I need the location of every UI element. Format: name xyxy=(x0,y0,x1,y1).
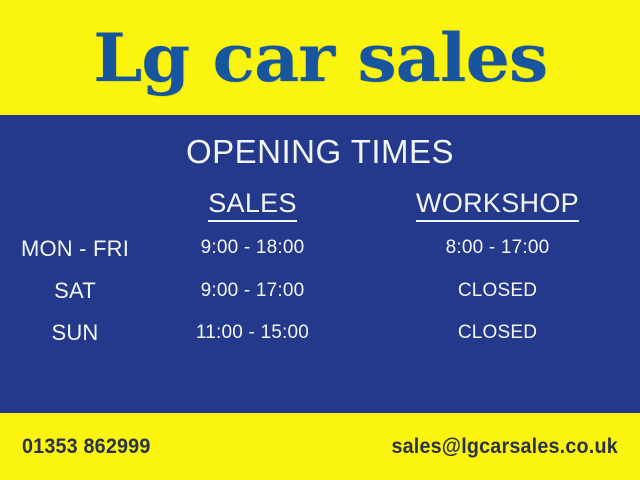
table-row: SUN 11:00 - 15:00 CLOSED xyxy=(0,312,640,354)
footer-band: 01353 862999 sales@lgcarsales.co.uk xyxy=(0,413,640,480)
brand-title: Lg car sales xyxy=(93,25,547,91)
row-sales-hours: 9:00 - 17:00 xyxy=(150,270,355,312)
row-workshop-hours: 8:00 - 17:00 xyxy=(355,228,640,270)
opening-hours-table: SALES WORKSHOP MON - FRI 9:00 - 18:00 8:… xyxy=(0,188,640,354)
page-title: OPENING TIMES xyxy=(0,115,640,168)
column-header-workshop-label: WORKSHOP xyxy=(416,189,579,222)
column-header-day xyxy=(0,188,150,228)
contact-email[interactable]: sales@lgcarsales.co.uk xyxy=(392,435,618,459)
row-sales-hours: 9:00 - 18:00 xyxy=(150,228,355,270)
main-panel: OPENING TIMES SALES WORKSHOP xyxy=(0,115,640,413)
table-header-row: SALES WORKSHOP xyxy=(0,188,640,228)
row-day-label: SAT xyxy=(0,270,150,312)
table-row: SAT 9:00 - 17:00 CLOSED xyxy=(0,270,640,312)
column-header-workshop: WORKSHOP xyxy=(355,188,640,228)
column-header-sales: SALES xyxy=(150,188,355,228)
row-sales-hours: 11:00 - 15:00 xyxy=(150,312,355,354)
contact-phone[interactable]: 01353 862999 xyxy=(22,435,151,459)
column-header-sales-label: SALES xyxy=(208,189,297,222)
header-band: Lg car sales xyxy=(0,0,640,115)
row-workshop-hours: CLOSED xyxy=(355,270,640,312)
row-workshop-hours: CLOSED xyxy=(355,312,640,354)
table-row: MON - FRI 9:00 - 18:00 8:00 - 17:00 xyxy=(0,228,640,270)
row-day-label: SUN xyxy=(0,312,150,354)
opening-times-poster: Lg car sales OPENING TIMES SALES WORKSHO… xyxy=(0,0,640,480)
row-day-label: MON - FRI xyxy=(0,228,150,270)
